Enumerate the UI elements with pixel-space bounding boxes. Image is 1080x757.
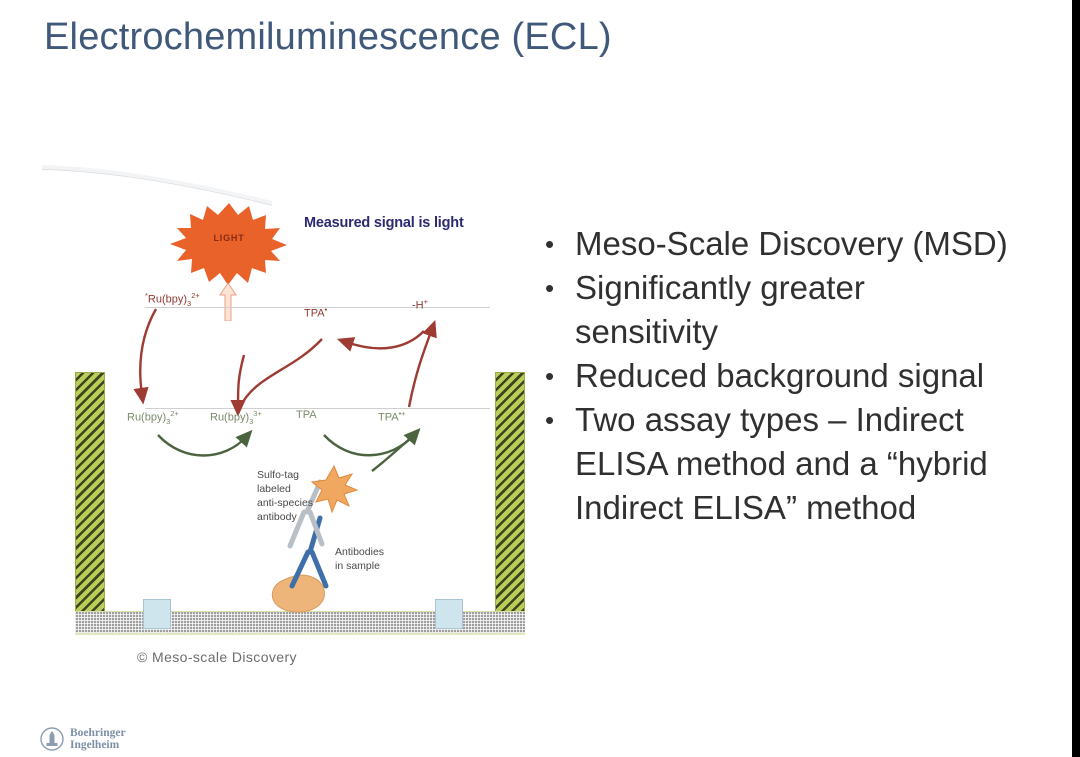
company-logo: Boehringer Ingelheim (40, 727, 126, 751)
arrow-tpa-radical-to-ru3-path (239, 339, 322, 407)
slide-canvas: Electrochemiluminescence (ECL) LIGHT Mea… (0, 0, 1072, 757)
species-proton-loss: -H+ (412, 297, 428, 312)
list-item: • Significantly greater sensitivity (545, 266, 1015, 354)
electrode-wall-left (75, 372, 105, 622)
species-excited-ru-bpy: *Ru(bpy)32+ (145, 291, 200, 308)
list-item: • Two assay types – Indirect ELISA metho… (545, 398, 1015, 530)
bullet-list: • Meso-Scale Discovery (MSD) • Significa… (545, 222, 1015, 530)
company-logo-text: Boehringer Ingelheim (70, 727, 126, 751)
bullet-marker-icon: • (545, 354, 575, 398)
ecl-mechanism-figure: LIGHT Measured signal is light (42, 165, 542, 675)
bullet-text: Significantly greater sensitivity (575, 266, 1015, 354)
figure-caption: © Meso-scale Discovery (137, 649, 297, 665)
arrow-tpa-to-tpa-cation (324, 435, 414, 455)
boehringer-emblem-icon (40, 727, 64, 751)
arrow-excited-ru-to-ru2 (140, 309, 156, 395)
bullet-text: Meso-Scale Discovery (MSD) (575, 222, 1015, 266)
arrow-ru2-to-ru3 (158, 435, 246, 456)
antibodies-in-sample-annotation: Antibodies in sample (335, 545, 384, 573)
bullet-text: Reduced background signal (575, 354, 1015, 398)
antigen-blob (272, 575, 324, 612)
arrow-tpa-cation-to-tpa-radical (346, 331, 424, 348)
reaction-arrows (132, 295, 502, 475)
page-title: Electrochemiluminescence (ECL) (44, 16, 612, 59)
species-tpa-cation-radical: TPA•+ (378, 409, 406, 424)
bullet-text: Two assay types – Indirect ELISA method … (575, 398, 1015, 530)
starburst-shape (170, 201, 288, 287)
screen-edge-band (1072, 0, 1080, 757)
starburst-label: LIGHT (170, 233, 288, 243)
list-item: • Meso-Scale Discovery (MSD) (545, 222, 1015, 266)
light-starburst-icon (170, 201, 288, 287)
bullet-marker-icon: • (545, 398, 575, 442)
bullet-marker-icon: • (545, 222, 575, 266)
species-ru-bpy-3plus: Ru(bpy)33+ (210, 409, 262, 426)
sulfo-tag-annotation: Sulfo-tag labeled anti-species antibody (257, 468, 313, 524)
measured-signal-label: Measured signal is light (304, 215, 464, 231)
arrow-to-excited-ru (238, 355, 244, 407)
electrode-pad-left (143, 599, 171, 629)
bullet-marker-icon: • (545, 266, 575, 310)
species-tpa: TPA (296, 409, 317, 421)
list-item: • Reduced background signal (545, 354, 1015, 398)
reaction-arrows-svg (132, 295, 502, 475)
electrode-pad-right (435, 599, 463, 629)
electrode-wall-right (495, 372, 525, 622)
species-tpa-radical: TPA• (304, 305, 327, 320)
species-ru-bpy-2plus: Ru(bpy)32+ (127, 409, 179, 426)
